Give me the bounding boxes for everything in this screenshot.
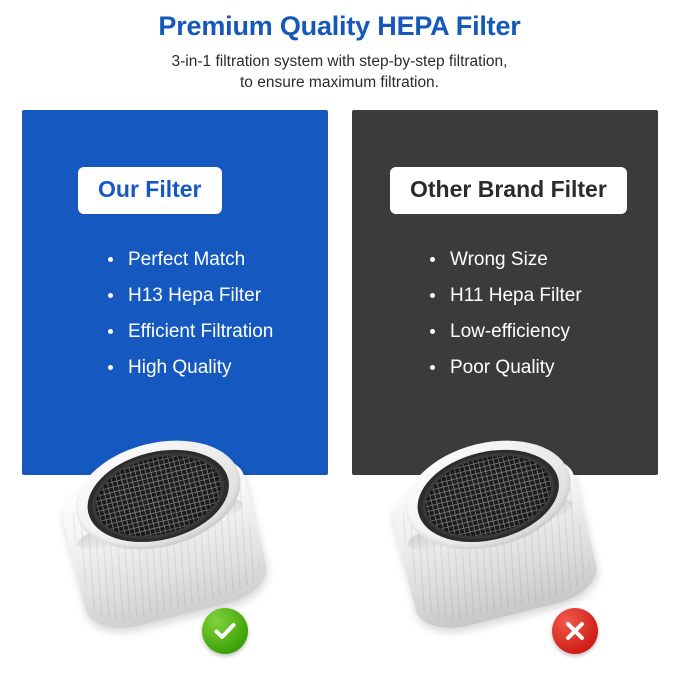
- feature-label: Efficient Filtration: [128, 321, 273, 342]
- bullet-icon: [430, 329, 435, 334]
- bullet-icon: [430, 257, 435, 262]
- cross-icon: [552, 608, 598, 654]
- comparison-infographic: Premium Quality HEPA Filter 3-in-1 filtr…: [0, 0, 679, 679]
- list-item: H11 Hepa Filter: [430, 286, 582, 305]
- panel-badge-other-brand-filter: Other Brand Filter: [390, 167, 627, 214]
- bullet-icon: [108, 329, 113, 334]
- check-icon: [202, 608, 248, 654]
- other-brand-filter-image: [372, 360, 672, 660]
- subtitle-line-1: 3-in-1 filtration system with step-by-st…: [90, 52, 590, 73]
- panels-container: Our Filter Perfect Match H13 Hepa Filter…: [0, 110, 679, 670]
- filter-illustration: [50, 420, 281, 632]
- list-item: Efficient Filtration: [108, 322, 273, 341]
- feature-label: Low-efficiency: [450, 321, 570, 342]
- bullet-icon: [108, 257, 113, 262]
- feature-label: Perfect Match: [128, 249, 245, 270]
- subtitle-line-2: to ensure maximum filtration.: [90, 73, 590, 94]
- list-item: Low-efficiency: [430, 322, 582, 341]
- list-item: Wrong Size: [430, 250, 582, 269]
- feature-label: H13 Hepa Filter: [128, 285, 261, 306]
- bullet-icon: [430, 293, 435, 298]
- bullet-icon: [108, 293, 113, 298]
- feature-label: Wrong Size: [450, 249, 548, 270]
- filter-illustration: [380, 420, 611, 632]
- header: Premium Quality HEPA Filter 3-in-1 filtr…: [0, 0, 679, 94]
- subtitle: 3-in-1 filtration system with step-by-st…: [90, 52, 590, 94]
- our-filter-image: [42, 360, 342, 660]
- panel-badge-our-filter: Our Filter: [78, 167, 222, 214]
- page-title: Premium Quality HEPA Filter: [0, 4, 679, 44]
- list-item: Perfect Match: [108, 250, 273, 269]
- list-item: H13 Hepa Filter: [108, 286, 273, 305]
- feature-label: H11 Hepa Filter: [450, 285, 582, 306]
